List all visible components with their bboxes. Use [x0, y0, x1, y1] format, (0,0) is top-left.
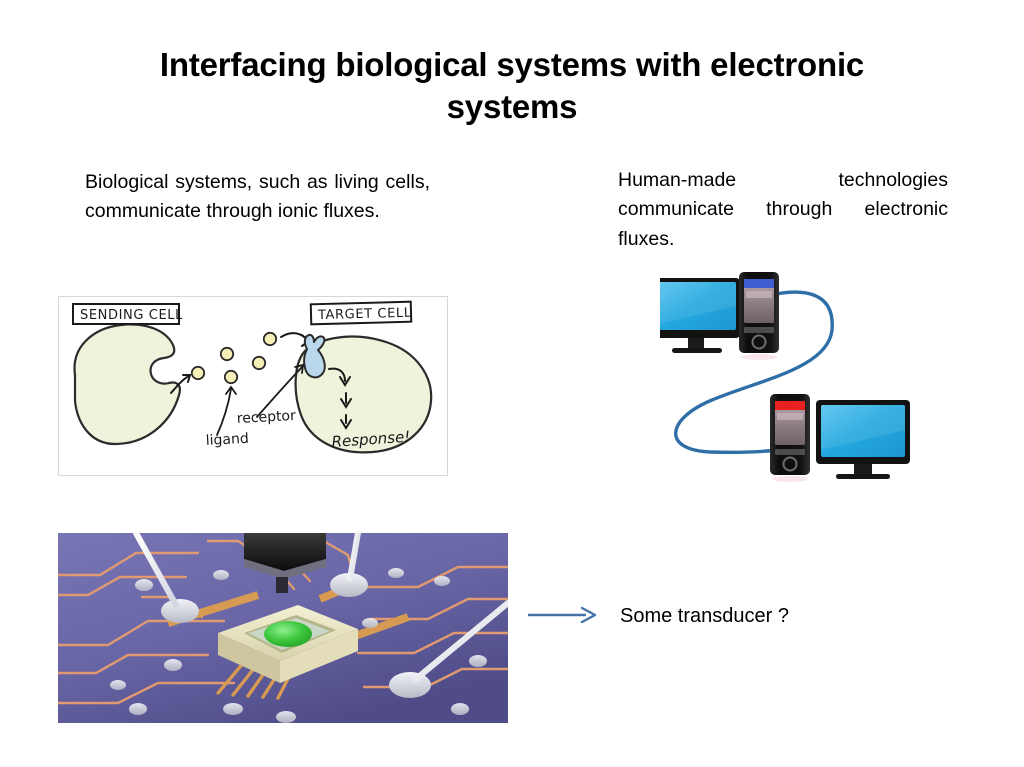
receptor-label: receptor	[236, 408, 296, 427]
monitor-top-left	[660, 278, 740, 353]
ligand-pointer	[217, 387, 236, 435]
green-droplet	[264, 621, 312, 647]
biochip-figure	[58, 533, 508, 723]
phone-top	[739, 272, 779, 360]
sending-cell-shape	[75, 324, 180, 444]
cell-signalling-illustration: SENDING CELL TARGET CELL	[59, 297, 447, 475]
transducer-arrow	[528, 604, 598, 626]
receptor-shape	[304, 335, 325, 378]
page-title: Interfacing biological systems with elec…	[92, 44, 932, 128]
slide-canvas: Interfacing biological systems with elec…	[0, 0, 1024, 767]
cell-signalling-figure: SENDING CELL TARGET CELL	[58, 296, 448, 476]
devices-illustration	[660, 272, 922, 484]
right-arrow-icon	[528, 604, 598, 626]
devices-figure	[660, 272, 922, 484]
human-made-technologies-paragraph: Human-made technologies communicate thro…	[618, 166, 948, 254]
biochip-illustration	[58, 533, 508, 723]
ligand-particles	[192, 333, 276, 383]
biological-systems-paragraph: Biological systems, such as living cells…	[85, 168, 430, 227]
target-cell-label: TARGET CELL	[317, 306, 412, 323]
phone-top-header-bar	[744, 279, 774, 288]
monitor-bottom-right	[816, 400, 910, 479]
ligand-label: ligand	[205, 431, 249, 449]
phone-bottom-header-bar	[775, 401, 805, 410]
phone-bottom	[770, 394, 810, 482]
sending-cell-label: SENDING CELL	[80, 308, 183, 323]
transducer-caption: Some transducer ?	[620, 603, 789, 629]
